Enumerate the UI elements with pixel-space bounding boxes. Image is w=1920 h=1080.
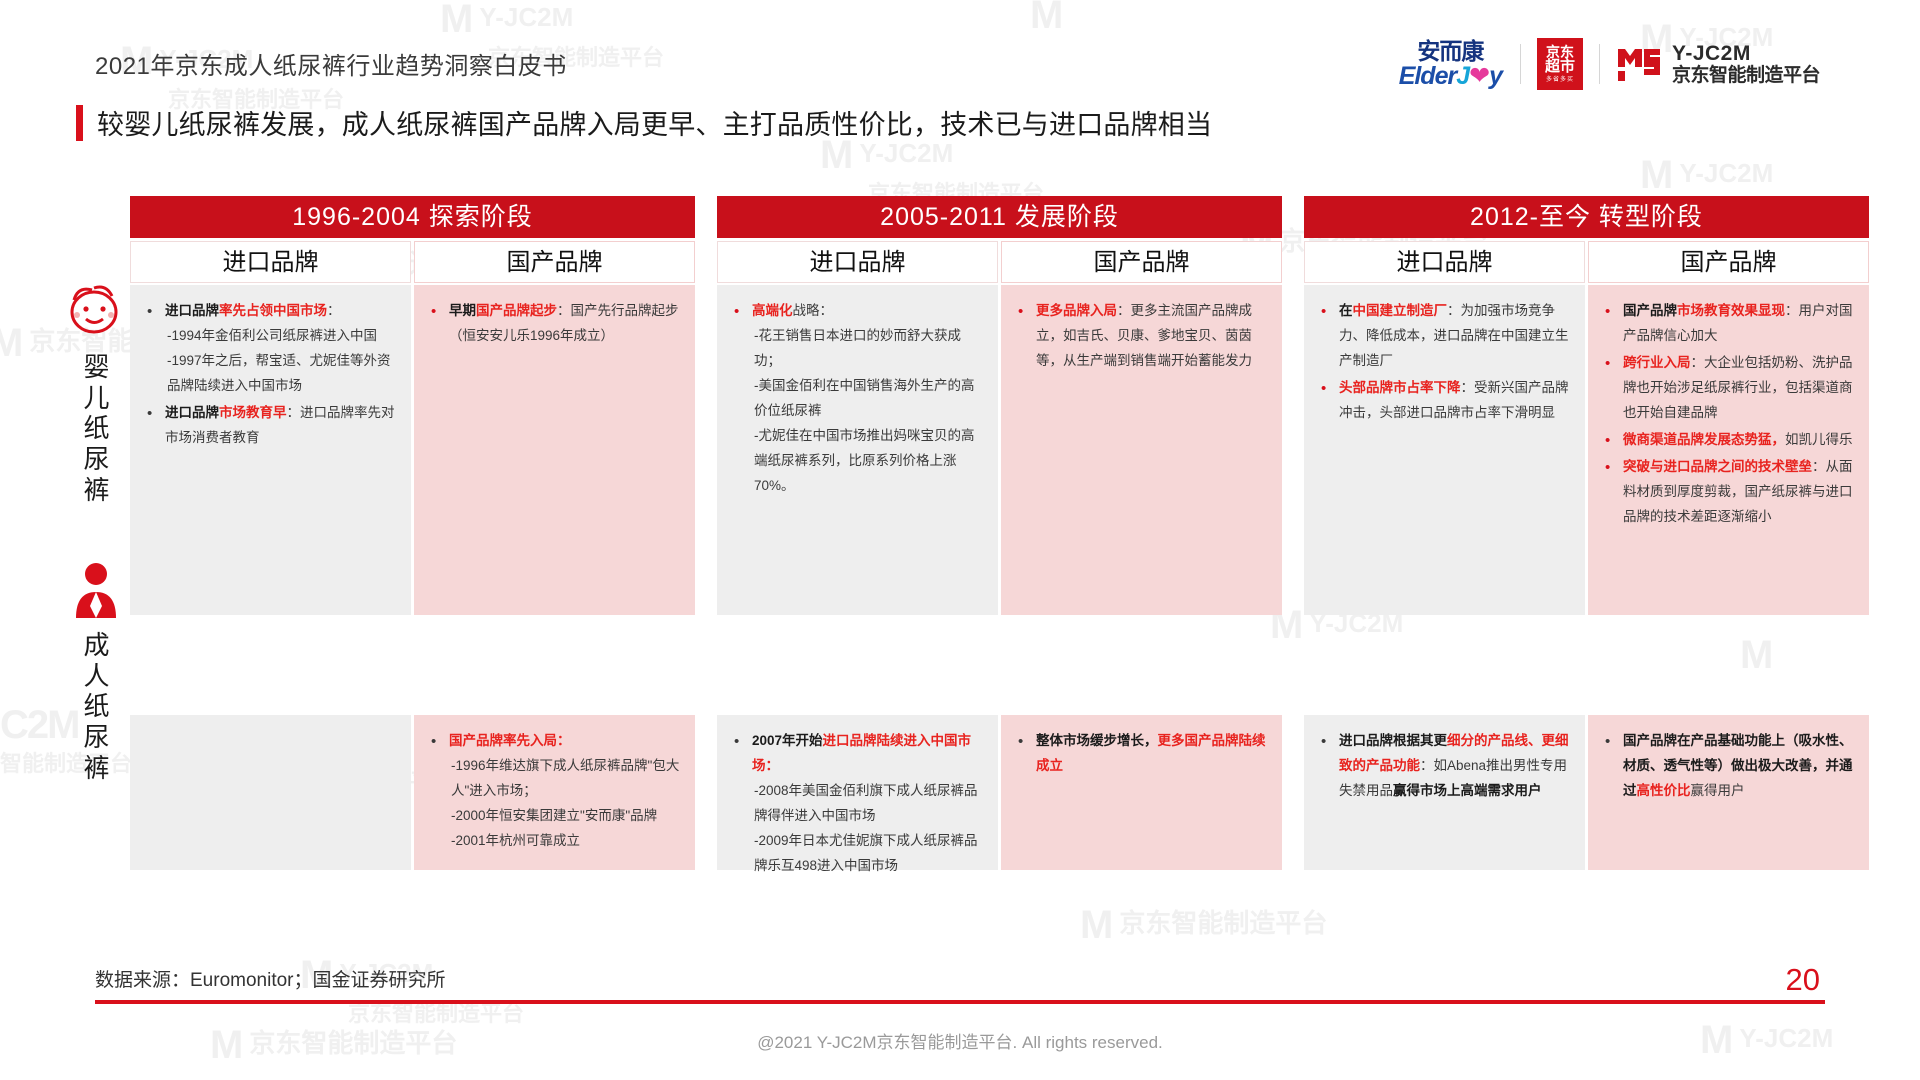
highlight-text: 市场教育效果显现 (1677, 303, 1785, 318)
list-item: 跨行业入局：大企业包括奶粉、洗护品牌也开始涉足纸尿裤行业，包括渠道商也开始自建品… (1601, 351, 1856, 426)
cell-baby-domestic: 早期国产品牌起步：国产先行品牌起步（恒安安儿乐1996年成立） (414, 285, 695, 615)
phase-column-2: 2005-2011 发展阶段进口品牌国产品牌高端化战略：-花王销售日本进口的妙而… (717, 196, 1282, 870)
list-item: 微商渠道品牌发展态势猛，如凯儿得乐 (1601, 428, 1856, 453)
adult-row: 进口品牌根据其更细分的产品线、更细致的产品功能：如Abena推出男性专用失禁用品… (1304, 715, 1869, 870)
slide-page: MY-JC2M京东智能制造平台 M MY-JC2M MY-JC2M京东智能制造平… (0, 0, 1920, 1080)
cell-adult-domestic: 国产品牌率先入局：-1996年维达旗下成人纸尿裤品牌"包大人"进入市场；-200… (414, 715, 695, 870)
bullet-list: 进口品牌率先占领中国市场：-1994年金佰利公司纸尿裤进入中国-1997年之后，… (143, 299, 398, 451)
yjc2m-logo: Y-JC2M 京东智能制造平台 (1600, 42, 1820, 87)
sub-line: -尤妮佳在中国市场推出妈咪宝贝的高端纸尿裤系列，比原系列价格上涨70%。 (752, 424, 985, 499)
brand-header-row: 进口品牌国产品牌 (130, 241, 695, 283)
brand-header-domestic: 国产品牌 (414, 241, 695, 283)
brand-header-domestic: 国产品牌 (1588, 241, 1869, 283)
cell-baby-domestic: 国产品牌市场教育效果显现：用户对国产品牌信心加大跨行业入局：大企业包括奶粉、洗护… (1588, 285, 1869, 615)
brand-header-row: 进口品牌国产品牌 (1304, 241, 1869, 283)
elderjoy-logo: 安而康 ElderJ❤y (1399, 40, 1520, 89)
lead-text: 进口品牌 (165, 405, 219, 420)
jd-chaoshi-line3: 多省多买 (1546, 77, 1574, 83)
bullet-list: 国产品牌率先入局：-1996年维达旗下成人纸尿裤品牌"包大人"进入市场；-200… (427, 729, 682, 854)
highlight-text: 国产品牌率先入局： (449, 733, 571, 748)
yjc2m-logo-en: Y-JC2M (1672, 42, 1820, 66)
highlight-text: 市场教育早 (219, 405, 287, 420)
page-title: 较婴儿纸尿裤发展，成人纸尿裤国产品牌入局更早、主打品质性价比，技术已与进口品牌相… (97, 103, 1212, 142)
phase-title: 2005-2011 发展阶段 (717, 196, 1282, 238)
adult-person-icon (72, 560, 120, 627)
brand-header-import: 进口品牌 (130, 241, 411, 283)
list-item: 进口品牌根据其更细分的产品线、更细致的产品功能：如Abena推出男性专用失禁用品… (1317, 729, 1572, 804)
phase-column-1: 1996-2004 探索阶段进口品牌国产品牌进口品牌率先占领中国市场：-1994… (130, 196, 695, 870)
headline-accent-bar (76, 105, 83, 141)
bullet-list: 早期国产品牌起步：国产先行品牌起步（恒安安儿乐1996年成立） (427, 299, 682, 349)
brand-header-domestic: 国产品牌 (1001, 241, 1282, 283)
lead-text: 国产品牌 (1623, 303, 1677, 318)
cell-adult-import: 2007年开始进口品牌陆续进入中国市场：-2008年美国金佰利旗下成人纸尿裤品牌… (717, 715, 998, 870)
logo-divider (1520, 44, 1521, 84)
list-item: 进口品牌市场教育早：进口品牌率先对市场消费者教育 (143, 401, 398, 451)
list-item: 早期国产品牌起步：国产先行品牌起步（恒安安儿乐1996年成立） (427, 299, 682, 349)
list-item: 头部品牌市占率下降：受新兴国产品牌冲击，头部进口品牌市占率下滑明显 (1317, 376, 1572, 426)
phase-matrix: 1996-2004 探索阶段进口品牌国产品牌进口品牌率先占领中国市场：-1994… (130, 196, 1870, 870)
bullet-list: 在中国建立制造厂：为加强市场竞争力、降低成本，进口品牌在中国建立生产制造厂头部品… (1317, 299, 1572, 426)
sub-line: -1994年金佰利公司纸尿裤进入中国 (165, 324, 398, 349)
baby-row: 在中国建立制造厂：为加强市场竞争力、降低成本，进口品牌在中国建立生产制造厂头部品… (1304, 285, 1869, 615)
phase-columns: 1996-2004 探索阶段进口品牌国产品牌进口品牌率先占领中国市场：-1994… (130, 196, 1870, 870)
bullet-list: 更多品牌入局：更多主流国产品牌成立，如吉氏、贝康、爹地宝贝、茵茵等，从生产端到销… (1014, 299, 1269, 374)
sub-line: -2008年美国金佰利旗下成人纸尿裤品牌得伴进入中国市场 (752, 779, 985, 829)
copyright-notice: @2021 Y-JC2M京东智能制造平台. All rights reserve… (0, 1028, 1920, 1053)
detail-text: ： (327, 303, 341, 318)
lead-text: 2007年开始 (752, 733, 823, 748)
brand-header-row: 进口品牌国产品牌 (717, 241, 1282, 283)
data-source: 数据来源：Euromonitor；国金证券研究所 (95, 965, 446, 992)
row-label-baby: 婴儿纸尿裤 (82, 352, 112, 505)
elderjoy-logo-cn: 安而康 (1399, 40, 1502, 63)
baby-face-icon (62, 282, 126, 345)
brand-header-import: 进口品牌 (1304, 241, 1585, 283)
highlight-text: 高端化 (752, 303, 793, 318)
highlight-text: 率先占领中国市场 (219, 303, 327, 318)
adult-row: 国产品牌率先入局：-1996年维达旗下成人纸尿裤品牌"包大人"进入市场；-200… (130, 715, 695, 870)
list-item: 更多品牌入局：更多主流国产品牌成立，如吉氏、贝康、爹地宝贝、茵茵等，从生产端到销… (1014, 299, 1269, 374)
cell-adult-import (130, 715, 411, 870)
document-title: 2021年京东成人纸尿裤行业趋势洞察白皮书 (95, 46, 567, 81)
watermark: MY-JC2M (1640, 150, 1773, 200)
bullet-list: 2007年开始进口品牌陆续进入中国市场：-2008年美国金佰利旗下成人纸尿裤品牌… (730, 729, 985, 879)
lead-text: 整体市场缓步增长， (1036, 733, 1158, 748)
cell-baby-domestic: 更多品牌入局：更多主流国产品牌成立，如吉氏、贝康、爹地宝贝、茵茵等，从生产端到销… (1001, 285, 1282, 615)
jd-chaoshi-line2: 超市 (1545, 59, 1575, 75)
baby-row: 高端化战略：-花王销售日本进口的妙而舒大获成功；-美国金佰利在中国销售海外生产的… (717, 285, 1282, 615)
phase-title: 2012-至今 转型阶段 (1304, 196, 1869, 238)
headline-block: 较婴儿纸尿裤发展，成人纸尿裤国产品牌入局更早、主打品质性价比，技术已与进口品牌相… (76, 103, 1212, 142)
highlight-text: 更多品牌入局 (1036, 303, 1117, 318)
cell-baby-import: 在中国建立制造厂：为加强市场竞争力、降低成本，进口品牌在中国建立生产制造厂头部品… (1304, 285, 1585, 615)
bullet-list: 整体市场缓步增长，更多国产品牌陆续成立 (1014, 729, 1269, 779)
bullet-list: 高端化战略：-花王销售日本进口的妙而舒大获成功；-美国金佰利在中国销售海外生产的… (730, 299, 985, 499)
brand-header-import: 进口品牌 (717, 241, 998, 283)
sub-line: -1997年之后，帮宝适、尤妮佳等外资品牌陆续进入中国市场 (165, 349, 398, 399)
watermark: M (1030, 0, 1069, 40)
cell-baby-import: 进口品牌率先占领中国市场：-1994年金佰利公司纸尿裤进入中国-1997年之后，… (130, 285, 411, 615)
highlight-text: 高性价比 (1637, 783, 1691, 798)
list-item: 国产品牌市场教育效果显现：用户对国产品牌信心加大 (1601, 299, 1856, 349)
list-item: 国产品牌率先入局：-1996年维达旗下成人纸尿裤品牌"包大人"进入市场；-200… (427, 729, 682, 854)
detail-text: 如凯儿得乐 (1785, 432, 1853, 447)
row-label-adult: 成人纸尿裤 (82, 630, 112, 783)
sub-line: -2009年日本尤佳妮旗下成人纸尿裤品牌乐互498进入中国市场 (752, 829, 985, 879)
highlight-text: 微商渠道品牌发展态势猛， (1623, 432, 1785, 447)
highlight-text: 头部品牌市占率下降 (1339, 380, 1461, 395)
highlight-text: 中国建立制造厂 (1353, 303, 1448, 318)
lead-text: 进口品牌根据其更 (1339, 733, 1447, 748)
detail-text: 赢得市场上高端需求用户 (1393, 783, 1542, 798)
list-item: 国产品牌在产品基础功能上（吸水性、材质、透气性等）做出极大改善，并通过高性价比赢… (1601, 729, 1856, 804)
lead-text: 在 (1339, 303, 1353, 318)
sub-line: -美国金佰利在中国销售海外生产的高价位纸尿裤 (752, 374, 985, 424)
watermark: C2M智能制造平台 (0, 700, 132, 778)
list-item: 在中国建立制造厂：为加强市场竞争力、降低成本，进口品牌在中国建立生产制造厂 (1317, 299, 1572, 374)
cell-baby-import: 高端化战略：-花王销售日本进口的妙而舒大获成功；-美国金佰利在中国销售海外生产的… (717, 285, 998, 615)
sub-line: -1996年维达旗下成人纸尿裤品牌"包大人"进入市场； (449, 754, 682, 804)
cell-adult-domestic: 国产品牌在产品基础功能上（吸水性、材质、透气性等）做出极大改善，并通过高性价比赢… (1588, 715, 1869, 870)
adult-row: 2007年开始进口品牌陆续进入中国市场：-2008年美国金佰利旗下成人纸尿裤品牌… (717, 715, 1282, 870)
yjc2m-logo-cn: 京东智能制造平台 (1672, 65, 1820, 86)
lead-text: 进口品牌 (165, 303, 219, 318)
page-number: 20 (1786, 962, 1820, 998)
bullet-list: 国产品牌市场教育效果显现：用户对国产品牌信心加大跨行业入局：大企业包括奶粉、洗护… (1601, 299, 1856, 530)
yjc2m-mark-icon (1616, 45, 1662, 83)
jd-chaoshi-logo: 京东 超市 多省多买 (1537, 38, 1583, 90)
cell-adult-import: 进口品牌根据其更细分的产品线、更细致的产品功能：如Abena推出男性专用失禁用品… (1304, 715, 1585, 870)
lead-text: 早期 (449, 303, 476, 318)
highlight-text: 跨行业入局 (1623, 355, 1691, 370)
list-item: 2007年开始进口品牌陆续进入中国市场：-2008年美国金佰利旗下成人纸尿裤品牌… (730, 729, 985, 879)
elderjoy-logo-en: ElderJ❤y (1399, 64, 1502, 89)
bullet-list: 进口品牌根据其更细分的产品线、更细致的产品功能：如Abena推出男性专用失禁用品… (1317, 729, 1572, 804)
baby-row: 进口品牌率先占领中国市场：-1994年金佰利公司纸尿裤进入中国-1997年之后，… (130, 285, 695, 615)
detail-text: 战略： (793, 303, 834, 318)
list-item: 整体市场缓步增长，更多国产品牌陆续成立 (1014, 729, 1269, 779)
list-item: 突破与进口品牌之间的技术壁垒：从面料材质到厚度剪裁，国产纸尿裤与进口品牌的技术差… (1601, 455, 1856, 530)
highlight-text: 国产品牌起步 (476, 303, 557, 318)
sub-line: -2001年杭州可靠成立 (449, 829, 682, 854)
bullet-list: 国产品牌在产品基础功能上（吸水性、材质、透气性等）做出极大改善，并通过高性价比赢… (1601, 729, 1856, 804)
list-item: 进口品牌率先占领中国市场：-1994年金佰利公司纸尿裤进入中国-1997年之后，… (143, 299, 398, 399)
sub-line: -2000年恒安集团建立"安而康"品牌 (449, 804, 682, 829)
logo-bar: 安而康 ElderJ❤y 京东 超市 多省多买 Y-JC2M 京东智能制造平台 (1399, 36, 1820, 92)
footer-rule (95, 1000, 1825, 1004)
cell-adult-domestic: 整体市场缓步增长，更多国产品牌陆续成立 (1001, 715, 1282, 870)
phase-column-3: 2012-至今 转型阶段进口品牌国产品牌在中国建立制造厂：为加强市场竞争力、降低… (1304, 196, 1869, 870)
detail-text: 赢得用户 (1691, 783, 1745, 798)
phase-title: 1996-2004 探索阶段 (130, 196, 695, 238)
highlight-text: 突破与进口品牌之间的技术壁垒 (1623, 459, 1812, 474)
watermark: M京东智能制造平台 (1080, 900, 1327, 950)
sub-line: -花王销售日本进口的妙而舒大获成功； (752, 324, 985, 374)
list-item: 高端化战略：-花王销售日本进口的妙而舒大获成功；-美国金佰利在中国销售海外生产的… (730, 299, 985, 499)
